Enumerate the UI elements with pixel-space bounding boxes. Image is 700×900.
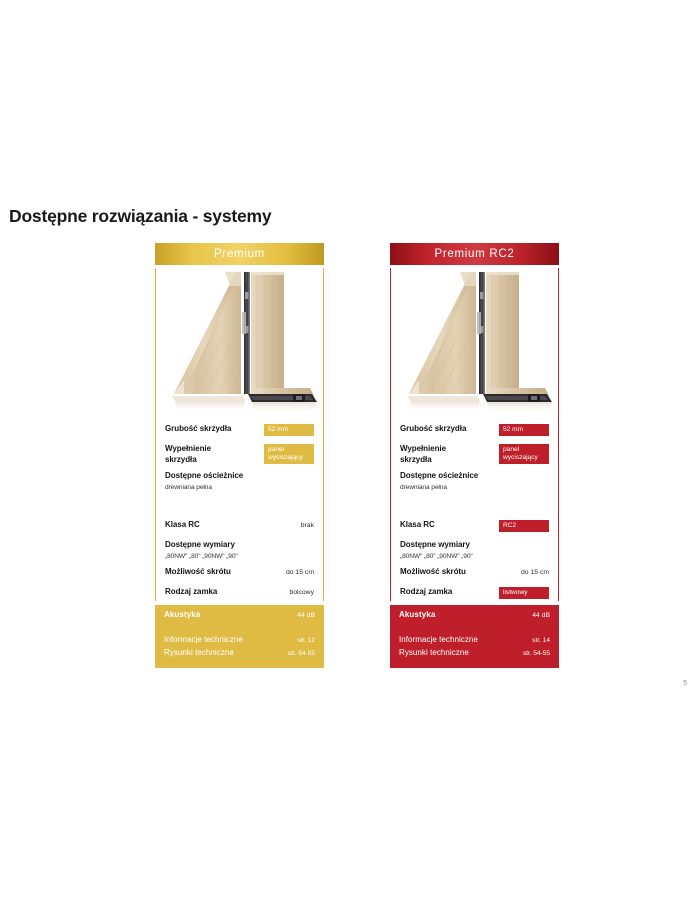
spec-row: Klasa RC brak [165, 520, 314, 534]
spec-subvalue: drewniana pełna [400, 483, 549, 492]
spec-label: Wypełnienie skrzydła [400, 444, 446, 465]
acoustics-label: Akustyka [399, 610, 435, 619]
page-number: 5 [683, 680, 687, 687]
footer-link-label: Informacje techniczne [399, 635, 478, 644]
spec-label: Dostępne wymiary [400, 540, 470, 551]
footer-link-page: str. 12 [297, 637, 315, 644]
spec-row: Grubość skrzydła 52 mm [165, 424, 314, 438]
spec-label: Klasa RC [165, 520, 200, 531]
spec-subvalue: drewniana pełna [165, 483, 314, 492]
spec-label: Możliwość skrótu [165, 567, 231, 578]
panel-header-title: Premium [155, 243, 324, 265]
spec-label: Dostępne ościeżnice [400, 471, 478, 482]
spec-value: brak [301, 520, 314, 532]
acoustics-row: Akustyka 44 dB [164, 605, 315, 623]
footer-links: Informacje techniczne str. 14 Rysunki te… [399, 623, 550, 668]
spec-row: Rodzaj zamka listwowy [400, 587, 549, 601]
acoustics-row: Akustyka 44 dB [399, 605, 550, 623]
spec-label: Rodzaj zamka [165, 587, 217, 598]
product-panel-premium: Premium [155, 243, 324, 668]
spec-label: Grubość skrzydła [165, 424, 231, 435]
spec-subvalue: „80NW" „80" „90NW" „90" [165, 552, 314, 561]
footer-link-page: str. 54-55 [523, 650, 550, 657]
spec-value: bolcowy [289, 587, 314, 599]
panel-footer: Akustyka 44 dB Informacje techniczne str… [390, 605, 559, 668]
door-cross-section-illustration [162, 268, 317, 418]
footer-link-drawings[interactable]: Rysunki techniczne str. 54-55 [399, 648, 550, 657]
spec-row: Możliwość skrótu do 15 cm [400, 567, 549, 581]
spec-label: Dostępne wymiary [165, 540, 235, 551]
spec-value-badge: listwowy [499, 587, 549, 599]
spec-value-badge: RC2 [499, 520, 549, 532]
spec-row: Grubość skrzydła 52 mm [400, 424, 549, 438]
product-panel-premium-rc2: Premium RC2 [390, 243, 559, 668]
spec-spacer [165, 498, 314, 520]
spec-row: Wypełnienie skrzydła panel wyciszający [165, 444, 314, 465]
spec-label: Dostępne ościeżnice [165, 471, 243, 482]
door-cross-section-illustration [397, 268, 552, 418]
product-photo-premium-rc2 [397, 268, 552, 418]
footer-link-label: Rysunki techniczne [399, 648, 469, 657]
spec-value-badge: 52 mm [499, 424, 549, 436]
footer-link-page: str. 54-55 [288, 650, 315, 657]
spec-label: Klasa RC [400, 520, 435, 531]
spec-value: do 15 cm [286, 567, 314, 579]
spec-subvalue: „80NW" „80" „90NW" „90" [400, 552, 549, 561]
footer-link-label: Rysunki techniczne [164, 648, 234, 657]
spec-list: Grubość skrzydła 52 mm Wypełnienie skrzy… [391, 420, 558, 601]
footer-links: Informacje techniczne str. 12 Rysunki te… [164, 623, 315, 668]
panel-footer: Akustyka 44 dB Informacje techniczne str… [155, 605, 324, 668]
acoustics-value: 44 dB [297, 612, 315, 619]
spec-spacer [400, 498, 549, 520]
panel-body: Grubość skrzydła 52 mm Wypełnienie skrzy… [390, 268, 559, 601]
spec-label: Możliwość skrótu [400, 567, 466, 578]
spec-list: Grubość skrzydła 52 mm Wypełnienie skrzy… [156, 420, 323, 601]
footer-link-page: str. 14 [532, 637, 550, 644]
spec-label: Grubość skrzydła [400, 424, 466, 435]
panel-body: Grubość skrzydła 52 mm Wypełnienie skrzy… [155, 268, 324, 601]
product-photo-premium [162, 268, 317, 418]
spec-value-badge: 52 mm [264, 424, 314, 436]
spec-label: Wypełnienie skrzydła [165, 444, 211, 465]
panel-header-title: Premium RC2 [390, 243, 559, 265]
spec-row: Klasa RC RC2 [400, 520, 549, 534]
footer-link-drawings[interactable]: Rysunki techniczne str. 54-55 [164, 648, 315, 657]
spec-row: Rodzaj zamka bolcowy [165, 587, 314, 601]
spec-row: Wypełnienie skrzydła panel wyciszający [400, 444, 549, 465]
footer-link-label: Informacje techniczne [164, 635, 243, 644]
footer-link-info[interactable]: Informacje techniczne str. 12 [164, 635, 315, 644]
spec-row: Możliwość skrótu do 15 cm [165, 567, 314, 581]
spec-label: Rodzaj zamka [400, 587, 452, 598]
acoustics-value: 44 dB [532, 612, 550, 619]
spec-value-badge: panel wyciszający [264, 444, 314, 464]
spec-value-badge: panel wyciszający [499, 444, 549, 464]
spec-value: do 15 cm [521, 567, 549, 579]
acoustics-label: Akustyka [164, 610, 200, 619]
page-title: Dostępne rozwiązania - systemy [9, 206, 271, 227]
catalog-page: Dostępne rozwiązania - systemy Premium [0, 0, 700, 900]
footer-link-info[interactable]: Informacje techniczne str. 14 [399, 635, 550, 644]
